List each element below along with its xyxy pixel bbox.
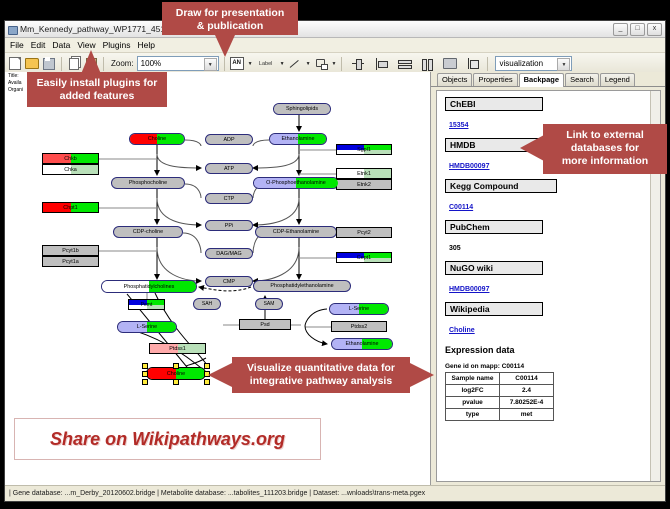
tab-objects[interactable]: Objects [437,73,472,86]
interaction-icon[interactable] [314,57,328,71]
node-chpt1[interactable]: Chpt1 [42,202,99,213]
visualization-combo[interactable]: visualization ▼ [495,56,572,71]
chevron-down-icon[interactable]: ▼ [204,58,217,71]
node-label: Pcyt1b [62,248,78,254]
node-label: Chka [64,167,77,173]
node-label: CDP-choline [133,229,163,235]
callout-draw-line1: Draw for presentation [171,7,289,20]
zoom-combo[interactable]: 100% ▼ [137,56,219,71]
zoom-label: Zoom: [111,59,134,68]
floppy-disk-icon[interactable] [42,57,56,71]
node-label: CTP [224,196,235,202]
node-pcyt1a[interactable]: Pcyt1a [42,256,99,267]
banner-share-wikipathways: Share on Wikipathways.org [14,418,321,460]
menu-item-plugins[interactable]: Plugins [103,40,131,50]
node-ethanolamine-bottom[interactable]: Ethanolamine [331,338,393,350]
db-header-wikipedia: Wikipedia [445,302,543,316]
datanode-icon[interactable]: AN [230,57,244,71]
node-cmp[interactable]: CMP [205,276,253,287]
node-ctp[interactable]: CTP [205,193,253,204]
tab-backpage[interactable]: Backpage [519,73,564,87]
node-ppi[interactable]: PPi [205,220,253,231]
node-label: SAM [264,301,275,307]
node-ptdss1[interactable]: Ptdss1 [149,343,206,354]
side-panel-tabs: Objects Properties Backpage Search Legen… [431,72,665,87]
align-left-icon[interactable] [374,57,388,71]
node-label: Phosphocholine [129,180,167,186]
expr-value: met [500,409,554,421]
node-choline-top[interactable]: Choline [129,133,185,145]
db-link-kegg-compound[interactable]: C00114 [449,204,473,211]
expr-value: 2.4 [500,385,554,397]
selection-handle[interactable] [173,379,179,385]
node-sah[interactable]: SAH [193,298,221,310]
node-dag-mag[interactable]: DAG/MAG [205,248,253,259]
banner-text: Share on Wikipathways.org [50,429,285,450]
node-label: ADP [223,137,234,143]
callout-draw-line2: & publication [171,20,289,33]
new-document-icon[interactable] [8,57,22,71]
db-header-pubchem: PubChem [445,220,543,234]
order-icon[interactable] [466,57,480,71]
info-title-label: Title: [8,73,23,80]
visualization-value: visualization [499,59,543,68]
db-header-kegg-compound: Kegg Compound [445,179,557,193]
db-link-chebi[interactable]: 15354 [449,122,468,129]
node-cdp-ethanolamine[interactable]: CDP-Ethanolamine [255,226,337,238]
minimize-button[interactable]: _ [613,23,628,36]
db-link-nugo-wiki[interactable]: HMDB00097 [449,286,489,293]
toolbar-separator-3 [224,57,225,71]
datanode-chevron-down-icon[interactable]: ▼ [248,61,253,67]
node-adp[interactable]: ADP [205,134,253,145]
node-phosphocholine[interactable]: Phosphocholine [111,177,185,189]
node-label: Ptdss2 [351,324,367,330]
expr-value: 7.80252E-4 [500,397,554,409]
node-chka[interactable]: Chka [42,164,99,175]
menu-item-help[interactable]: Help [138,40,155,50]
expr-key: Sample name [446,373,500,385]
node-label: Sgpl1 [357,147,371,153]
expr-value: C00114 [500,373,554,385]
callout-plugins: Easily install plugins for added feature… [27,72,167,107]
callout-visualize: Visualize quantitative data for integrat… [232,357,410,393]
node-o-phosphoethanolamine[interactable]: O-Phosphoethanolamine [253,177,339,189]
callout-visualize-line1: Visualize quantitative data for [241,362,401,375]
visualization-chevron-down-icon[interactable]: ▼ [557,58,570,71]
node-atp[interactable]: ATP [205,163,253,174]
db-link-wikipedia[interactable]: Choline [449,327,475,334]
callout-link-line3: more information [552,155,658,168]
app-icon [8,25,17,34]
node-cdp-choline[interactable]: CDP-choline [113,226,183,238]
printer-icon[interactable] [443,57,457,71]
expr-key: pvalue [446,397,500,409]
selection-handle[interactable] [142,379,148,385]
callout-draw: Draw for presentation & publication [162,2,298,35]
table-row: type met [446,409,554,421]
node-ethanolamine-top[interactable]: Ethanolamine [269,133,327,145]
node-label: Ethanolamine [282,136,315,142]
line-chevron-down-icon[interactable]: ▼ [306,61,311,67]
node-label: Ptdss1 [169,346,185,352]
node-pcyt1b[interactable]: Pcyt1b [42,245,99,256]
callout-plugins-line1: Easily install plugins for [36,77,158,90]
menu-bar: File Edit Data View Plugins Help [5,38,665,53]
node-label: L-Serine [349,306,369,312]
node-label: Choline [167,371,185,377]
tab-properties[interactable]: Properties [473,73,517,86]
node-chkb[interactable]: Chkb [42,153,99,164]
menu-item-edit[interactable]: Edit [31,40,46,50]
node-psd[interactable]: Psd [239,319,291,330]
expr-key: type [446,409,500,421]
node-label: Chpt1 [63,205,77,211]
pathway-info-text: Title: Availa Organi [8,73,23,94]
node-l-serine-left[interactable]: L-Serine [117,321,177,333]
expression-data-heading: Expression data [445,345,660,355]
node-label: CMP [223,279,235,285]
node-label: Sphingolipids [286,106,318,112]
expr-key: log2FC [446,385,500,397]
node-label: Chkb [64,156,77,162]
table-row: log2FC 2.4 [446,385,554,397]
callout-visualize-arrow-right-icon [410,363,434,387]
node-label: L-Serine [137,324,157,330]
node-sam[interactable]: SAM [255,298,283,310]
screenshot-root: Mm_Kennedy_pathway_WP1771_45176.gpml _ □… [0,0,670,509]
toolbar-separator-2 [103,57,104,71]
node-label: Etnk2 [357,182,371,188]
node-label: SAH [202,301,212,307]
callout-link-line1: Link to external [552,129,658,142]
callout-link-line2: databases for [552,142,658,155]
copy-icon[interactable] [67,57,81,71]
callout-link-arrow-icon [520,135,544,161]
callout-visualize-line2: integrative pathway analysis [241,375,401,388]
node-label: Phosphatidylcholines [124,284,175,290]
node-ptdss2[interactable]: Ptdss2 [331,321,387,332]
label-chevron-down-icon[interactable]: ▼ [280,61,285,67]
selection-handle[interactable] [142,371,148,377]
callout-visualize-arrow-left-icon [208,363,232,387]
node-pemt[interactable]: Pemt [128,299,165,310]
gene-id-on-mapp: Gene id on mapp: C00114 [445,363,660,370]
label-icon[interactable]: Label [256,57,276,71]
node-label: Psd [260,322,269,328]
info-available-label: Availa [8,80,23,87]
tab-search[interactable]: Search [565,73,599,86]
interaction-chevron-down-icon[interactable]: ▼ [332,61,337,67]
node-label: Cept1 [357,255,371,261]
menu-item-data[interactable]: Data [52,40,70,50]
node-label: O-Phosphoethanolamine [266,180,326,186]
node-label: PPi [225,223,233,229]
toolbar-separator-1 [61,57,62,71]
toolbar-separator-5 [487,57,488,71]
node-label: Pcyt1a [62,259,78,265]
callout-plugins-arrow-icon [81,50,101,74]
tab-legend[interactable]: Legend [600,73,635,86]
window-buttons: _ □ x [613,23,662,36]
node-label: Choline [148,136,166,142]
stack-columns-icon[interactable] [420,57,434,71]
expression-table: Sample name C00114 log2FC 2.4 pvalue 7.8… [445,372,554,421]
node-label: Pemt [141,302,153,308]
node-label: Pcyt2 [357,230,370,236]
db-value-pubchem: 305 [449,245,461,252]
node-phosphatidylethanolamine[interactable]: Phosphatidylethanolamine [253,280,351,292]
toolbar-separator-4 [341,57,342,71]
node-label: CDP-Ethanolamine [273,229,319,235]
node-label: ATP [224,166,234,172]
menu-item-view[interactable]: View [77,40,95,50]
node-phosphatidylcholines[interactable]: Phosphatidylcholines [101,280,197,293]
db-header-chebi: ChEBI [445,97,543,111]
node-cept1[interactable]: Cept1 [336,252,392,263]
info-organism-label: Organi [8,87,23,94]
node-pcyt2[interactable]: Pcyt2 [336,227,392,238]
node-label: Phosphatidylethanolamine [270,283,333,289]
close-button[interactable]: x [647,23,662,36]
table-row: pvalue 7.80252E-4 [446,397,554,409]
status-bar: | Gene database: ...m_Derby_20120602.bri… [5,485,665,501]
node-sphingolipids[interactable]: Sphingolipids [273,103,331,115]
stack-rows-icon[interactable] [397,57,411,71]
callout-draw-arrow-icon [215,35,235,57]
selection-handle[interactable] [142,363,148,369]
node-etnk2[interactable]: Etnk2 [336,179,392,190]
db-link-hmdb[interactable]: HMDB00097 [449,163,489,170]
zoom-value: 100% [141,59,161,68]
line-icon[interactable] [288,57,302,71]
window-titlebar: Mm_Kennedy_pathway_WP1771_45176.gpml _ □… [5,21,665,38]
open-folder-icon[interactable] [25,57,39,71]
db-header-nugo-wiki: NuGO wiki [445,261,543,275]
node-label: Ethanolamine [346,341,379,347]
menu-item-file[interactable]: File [10,40,24,50]
callout-link: Link to external databases for more info… [543,124,667,174]
node-etnk1[interactable]: Etnk1 [336,168,392,179]
selection-handle[interactable] [173,363,179,369]
label-tool-text: Label [259,61,272,67]
table-row: Sample name C00114 [446,373,554,385]
callout-plugins-line2: added features [36,90,158,103]
node-l-serine-right[interactable]: L-Serine [329,303,389,315]
status-bar-text: | Gene database: ...m_Derby_20120602.bri… [9,490,425,497]
align-center-icon[interactable] [351,57,365,71]
node-label: DAG/MAG [216,251,241,257]
node-label: Etnk1 [357,171,371,177]
node-sgpl1[interactable]: Sgpl1 [336,144,392,155]
maximize-button[interactable]: □ [630,23,645,36]
